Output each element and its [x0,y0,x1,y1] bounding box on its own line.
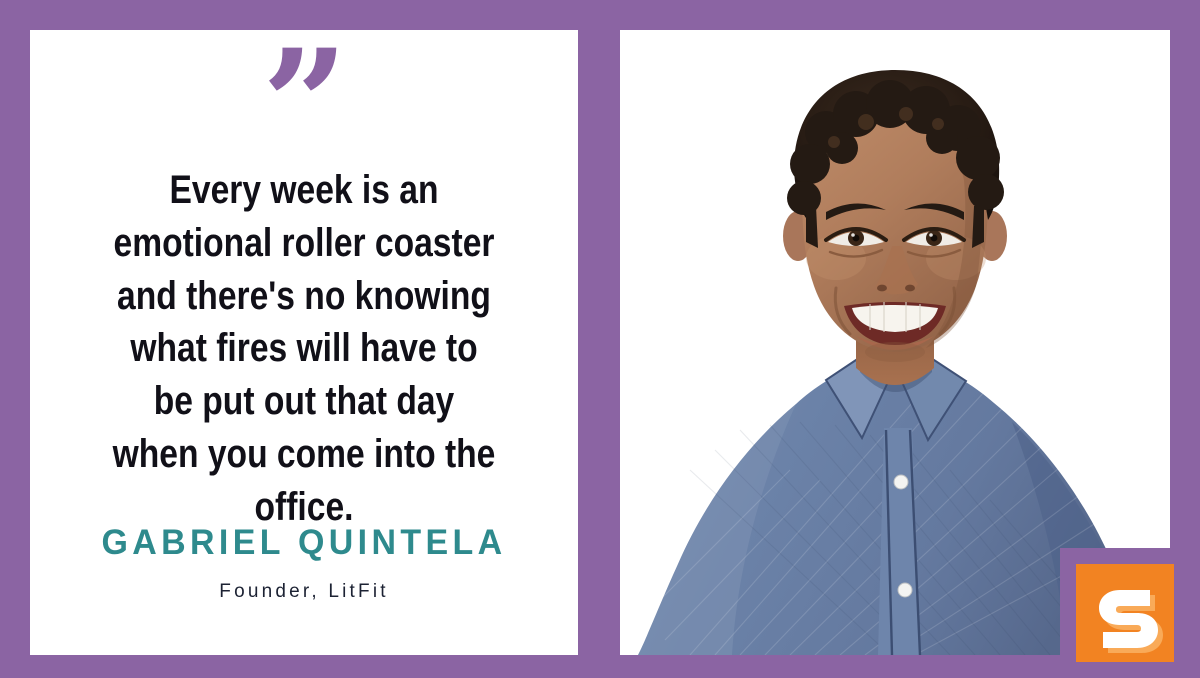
attribution: GABRIEL QUINTELA Founder, LitFit [30,525,578,601]
quote-text: Every week is an emotional roller coaste… [107,164,502,534]
person-role: Founder, LitFit [30,582,578,601]
brand-logo-icon[interactable] [1076,564,1174,662]
quotation-mark-icon: ” [262,64,346,142]
quote-card: ” Every week is an emotional roller coas… [30,30,578,655]
person-name: GABRIEL QUINTELA [38,525,570,560]
quote-social-graphic: ” Every week is an emotional roller coas… [0,0,1200,678]
